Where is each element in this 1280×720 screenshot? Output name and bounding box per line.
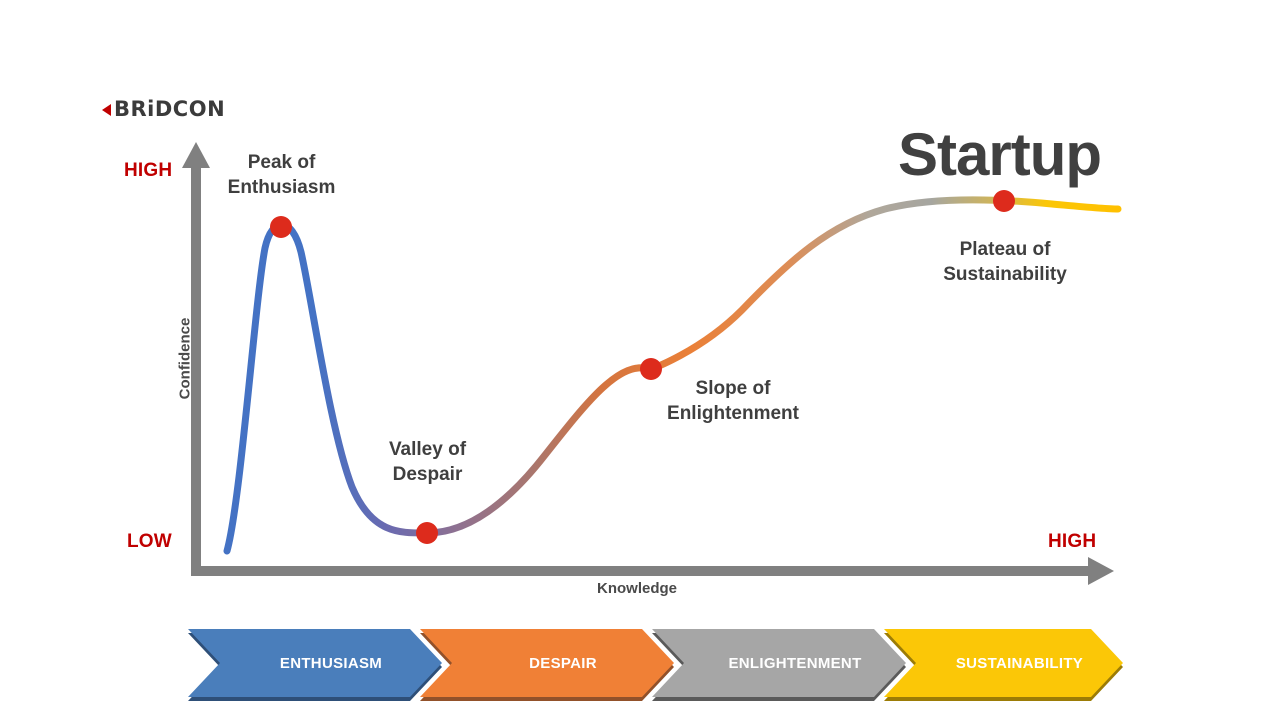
- chevron-sustainability[interactable]: [884, 629, 1123, 701]
- brand-logo: BRiDCON: [102, 99, 225, 120]
- slide-canvas: BRiDCON Startup: [0, 0, 1280, 720]
- annotation-slope-of-enlightenment: Slope of Enlightenment: [640, 376, 826, 426]
- chevron-enthusiasm[interactable]: [188, 629, 442, 701]
- annotation-peak-of-enthusiasm: Peak of Enthusiasm: [194, 150, 369, 200]
- marker-plateau-of-sustainability[interactable]: [993, 190, 1015, 212]
- annotation-valley-of-despair: Valley of Despair: [340, 437, 515, 487]
- x-axis-title: Knowledge: [597, 580, 677, 597]
- stage-chevrons: [188, 629, 1123, 701]
- x-axis-line: [191, 566, 1096, 576]
- y-axis-low-label: LOW: [127, 531, 172, 553]
- x-axis-high-label: HIGH: [1048, 531, 1096, 553]
- x-axis-arrowhead-icon: [1088, 557, 1114, 585]
- marker-peak-of-enthusiasm[interactable]: [270, 216, 292, 238]
- logo-wordmark: BRiDCON: [114, 99, 225, 120]
- stage-chevron-band: ENTHUSIASM DESPAIR ENLIGHTENMENT SUSTAIN…: [188, 629, 1123, 701]
- chevron-enlightenment[interactable]: [652, 629, 906, 701]
- y-axis-high-label: HIGH: [124, 160, 172, 182]
- page-title: Startup: [898, 125, 1101, 185]
- chevron-despair[interactable]: [420, 629, 674, 701]
- y-axis-title: Confidence: [177, 304, 194, 414]
- marker-valley-of-despair[interactable]: [416, 522, 438, 544]
- annotation-plateau-of-sustainability: Plateau of Sustainability: [905, 237, 1105, 287]
- logo-triangle-icon: [102, 104, 111, 116]
